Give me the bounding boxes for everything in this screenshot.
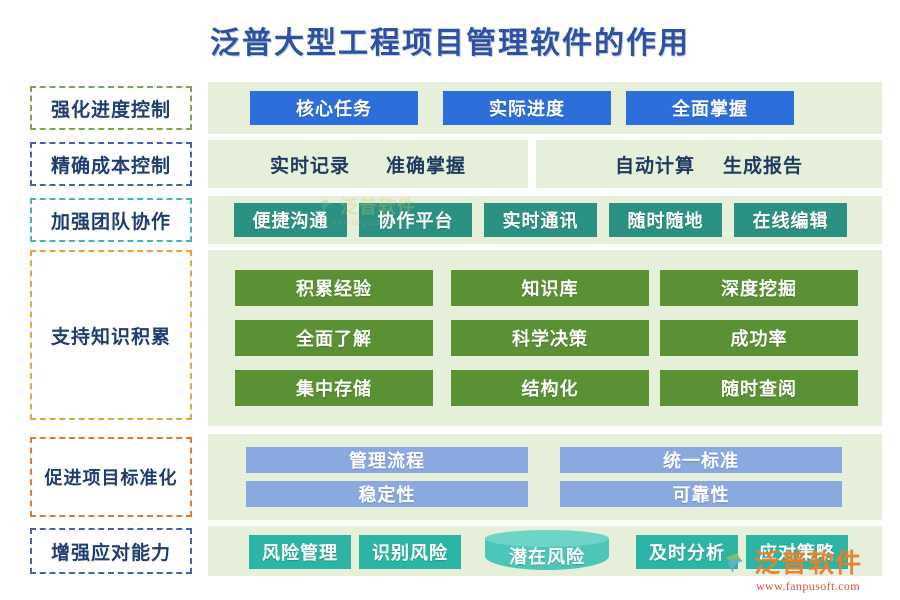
section-panel-standardization: 管理流程 统一标准 稳定性 可靠性	[208, 434, 882, 520]
chip-label: 积累经验	[296, 275, 372, 301]
chip-label: 统一标准	[663, 447, 739, 473]
chip-label: 在线编辑	[753, 207, 829, 233]
chip-risk-management[interactable]: 风险管理	[249, 535, 351, 569]
chip-label: 应对策略	[759, 539, 835, 565]
chip-label: 知识库	[522, 275, 579, 301]
chip-label: 便捷沟通	[253, 207, 329, 233]
section-panel-cost-group-2: 自动计算 生成报告	[536, 140, 882, 188]
chip-potential-risk-cylinder[interactable]: 潜在风险	[485, 530, 609, 574]
watermark-url: www.fanpusoft.com	[724, 579, 892, 594]
category-label-text: 精确成本控制	[51, 151, 171, 178]
chip-stability[interactable]: 稳定性	[246, 481, 528, 507]
category-label-schedule-control[interactable]: 强化进度控制	[30, 86, 192, 130]
chip-easy-communication[interactable]: 便捷沟通	[234, 203, 347, 237]
chip-accumulate-experience[interactable]: 积累经验	[235, 270, 433, 306]
chip-unified-standard[interactable]: 统一标准	[560, 447, 842, 473]
chip-label: 潜在风险	[485, 540, 609, 572]
chip-label: 集中存储	[296, 375, 372, 401]
category-label-knowledge-accumulation[interactable]: 支持知识积累	[30, 250, 192, 420]
category-label-standardization[interactable]: 促进项目标准化	[30, 437, 192, 517]
section-panel-schedule-control: 核心任务 实际进度 全面掌握	[208, 82, 882, 134]
category-label-text: 强化进度控制	[51, 95, 171, 122]
chip-label: 结构化	[522, 375, 579, 401]
chip-knowledge-base[interactable]: 知识库	[451, 270, 649, 306]
infographic-board: 泛普大型工程项目管理软件的作用 强化进度控制 核心任务 实际进度 全面掌握 精确…	[0, 0, 900, 600]
chip-response-strategy[interactable]: 应对策略	[746, 535, 848, 569]
section-panel-cost-group-1: 实时记录 准确掌握	[208, 140, 528, 188]
chip-label: 核心任务	[296, 95, 372, 121]
chip-online-editing[interactable]: 在线编辑	[734, 203, 847, 237]
section-panel-response-capability: 风险管理 识别风险 潜在风险 及时分析 应对策略	[208, 526, 882, 576]
chip-label: 随时查阅	[721, 375, 797, 401]
chip-deep-mining[interactable]: 深度挖掘	[660, 270, 858, 306]
chip-label: 可靠性	[673, 481, 730, 507]
chip-timely-analysis[interactable]: 及时分析	[636, 535, 738, 569]
text-auto-calculate: 自动计算	[615, 151, 695, 178]
category-label-cost-control[interactable]: 精确成本控制	[30, 142, 192, 186]
category-label-text: 支持知识积累	[51, 322, 171, 349]
chip-label: 风险管理	[262, 539, 338, 565]
text-accurate-grasp: 准确掌握	[386, 151, 466, 178]
chip-anytime-anywhere[interactable]: 随时随地	[609, 203, 722, 237]
chip-core-task[interactable]: 核心任务	[250, 91, 418, 125]
chip-label: 科学决策	[512, 325, 588, 351]
chip-label: 识别风险	[372, 539, 448, 565]
chip-actual-progress[interactable]: 实际进度	[443, 91, 611, 125]
chip-label: 全面掌握	[672, 95, 748, 121]
page-title: 泛普大型工程项目管理软件的作用	[0, 18, 900, 62]
text-realtime-record: 实时记录	[270, 151, 350, 178]
category-label-response-capability[interactable]: 增强应对能力	[30, 528, 192, 574]
category-label-text: 促进项目标准化	[45, 464, 178, 490]
chip-scientific-decision[interactable]: 科学决策	[451, 320, 649, 356]
chip-label: 管理流程	[349, 447, 425, 473]
chip-label: 实际进度	[489, 95, 565, 121]
chip-label: 成功率	[731, 325, 788, 351]
chip-anytime-review[interactable]: 随时查阅	[660, 370, 858, 406]
chip-full-understanding[interactable]: 全面了解	[235, 320, 433, 356]
chip-realtime-messaging[interactable]: 实时通讯	[484, 203, 597, 237]
chip-label: 稳定性	[359, 481, 416, 507]
text-generate-report: 生成报告	[723, 151, 803, 178]
category-label-text: 增强应对能力	[51, 538, 171, 565]
chip-label: 深度挖掘	[721, 275, 797, 301]
chip-label: 协作平台	[378, 207, 454, 233]
section-panel-team-collaboration: 便捷沟通 协作平台 实时通讯 随时随地 在线编辑	[208, 196, 882, 244]
category-label-text: 加强团队协作	[51, 207, 171, 234]
chip-label: 实时通讯	[503, 207, 579, 233]
chip-reliability[interactable]: 可靠性	[560, 481, 842, 507]
chip-central-storage[interactable]: 集中存储	[235, 370, 433, 406]
category-label-team-collaboration[interactable]: 加强团队协作	[30, 198, 192, 242]
section-panel-knowledge-accumulation: 积累经验 知识库 深度挖掘 全面了解 科学决策 成功率 集中存储 结构化 随时查…	[208, 250, 882, 426]
chip-full-grasp[interactable]: 全面掌握	[626, 91, 794, 125]
chip-structured[interactable]: 结构化	[451, 370, 649, 406]
chip-success-rate[interactable]: 成功率	[660, 320, 858, 356]
chip-identify-risk[interactable]: 识别风险	[359, 535, 461, 569]
chip-label: 及时分析	[649, 539, 725, 565]
chip-label: 随时随地	[628, 207, 704, 233]
chip-label: 全面了解	[296, 325, 372, 351]
chip-management-process[interactable]: 管理流程	[246, 447, 528, 473]
chip-collaboration-platform[interactable]: 协作平台	[359, 203, 472, 237]
